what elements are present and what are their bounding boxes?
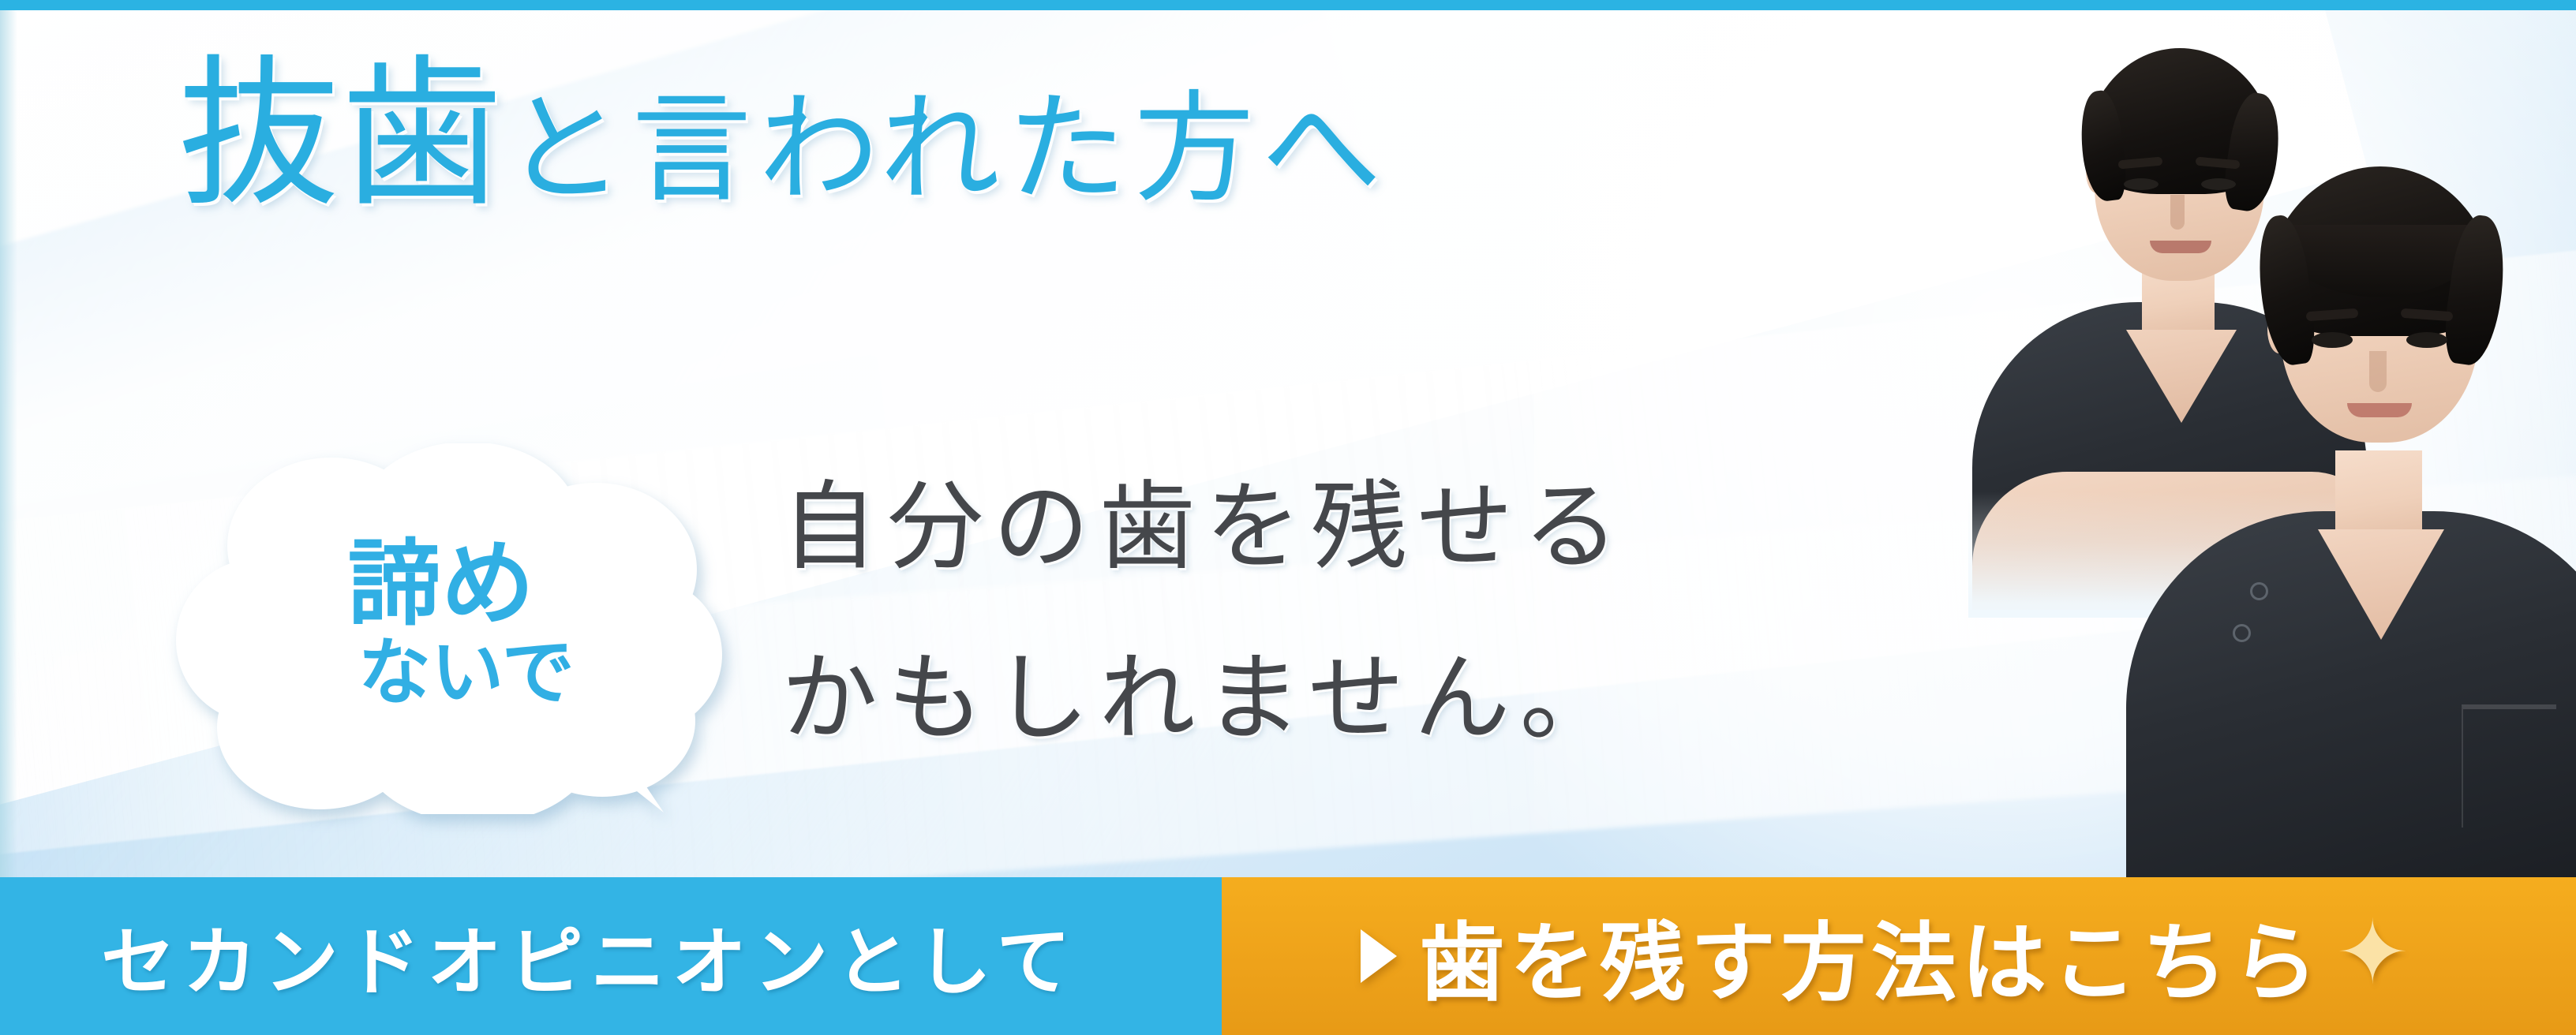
scrub-chest-pocket [2462,704,2556,828]
scrub-snap-lower [2233,624,2251,642]
headline: 抜歯と言われた方へ [178,55,1388,217]
eye-left-back [2124,178,2159,190]
headline-tail: と言われた方へ [504,84,1388,216]
headline-kanji: 抜歯 [178,47,504,226]
scrub-snap-upper [2250,582,2268,600]
speech-bubble-line1: 諦め [348,537,535,632]
speech-bubble-line2: ないで [358,635,575,712]
dentist-front-portrait [2177,152,2548,877]
sparkle-icon: ✦ [2335,917,2414,988]
nose-front [2369,351,2387,392]
mouth-front [2347,403,2412,417]
body-copy-line1: 自分の歯を残せる [781,442,1629,613]
bottom-bar: セカンドオピニオンとして 歯を残す方法はこちら ✦ [0,877,2576,1035]
top-accent-rule [0,0,2576,10]
eye-left-front [2312,332,2353,348]
second-opinion-label: セカンドオピニオンとして [101,902,1078,1010]
body-copy-line2: かもしれません。 [781,613,1629,784]
eye-right-front [2406,332,2447,348]
background-edge-left [0,10,17,877]
cta-content: 歯を残す方法はこちら ✦ [1361,895,2414,1018]
body-copy: 自分の歯を残せる かもしれません。 [781,442,1629,784]
dental-second-opinion-banner[interactable]: 抜歯と言われた方へ 諦め ないで 自分の歯を残せる かもしれません。 [0,0,2576,1035]
speech-bubble: 諦め ないで [170,443,722,814]
play-triangle-icon [1361,929,1397,983]
second-opinion-strip: セカンドオピニオンとして [0,877,1222,1035]
cta-button[interactable]: 歯を残す方法はこちら ✦ [1222,877,2576,1035]
cta-label: 歯を残す方法はこちら [1419,895,2323,1018]
dentist-photos [1921,10,2576,877]
speech-bubble-text: 諦め ないで [170,443,722,814]
